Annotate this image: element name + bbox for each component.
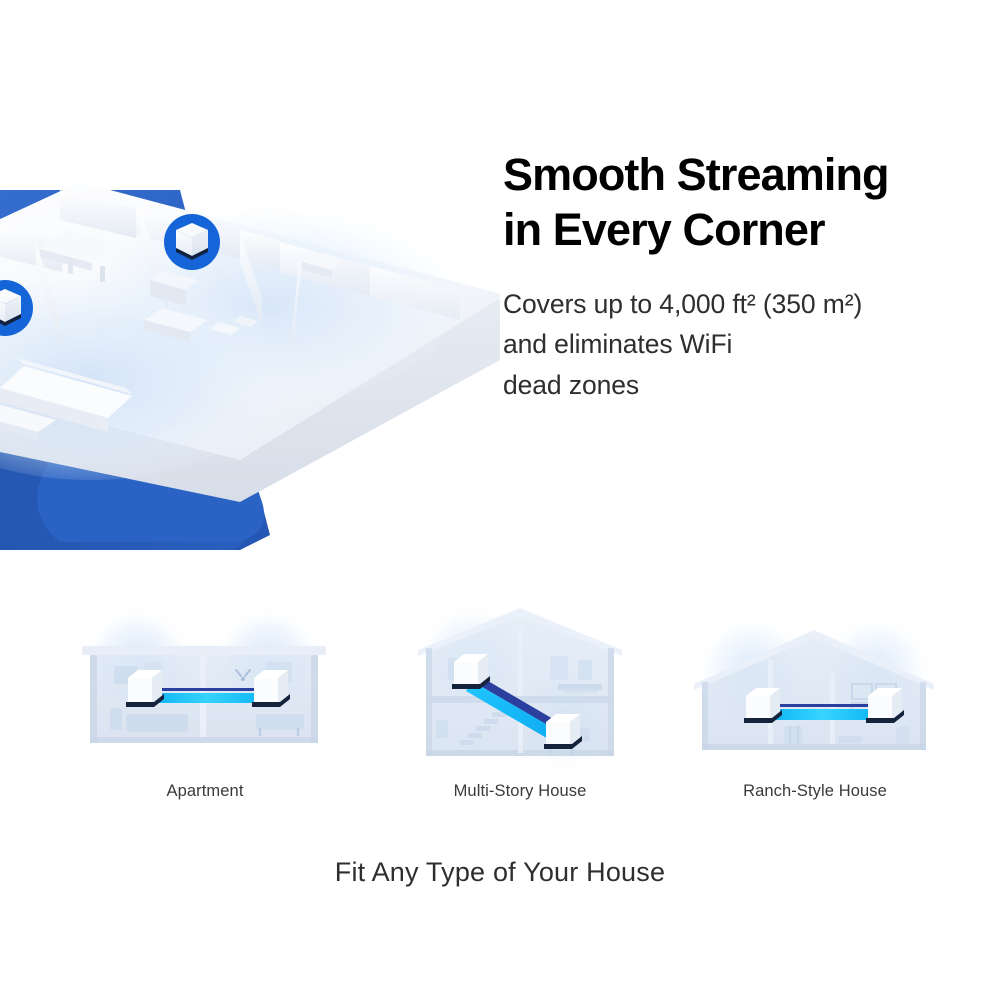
isometric-floorplan-illustration: [0, 130, 500, 570]
section-caption: Fit Any Type of Your House: [0, 857, 1000, 888]
mesh-unit-left: [744, 688, 782, 723]
ranch-house-illustration: [675, 600, 955, 785]
connection-beam: [772, 704, 874, 720]
house-types-section: Apartment: [0, 600, 1000, 840]
mesh-unit-right: [866, 688, 904, 723]
mesh-unit-right: [252, 670, 290, 707]
page-title: Smooth Streaming in Every Corner: [503, 148, 973, 258]
house-type-card-ranch: Ranch-Style House: [675, 600, 955, 801]
hero-section: Smooth Streaming in Every Corner Covers …: [0, 0, 1000, 575]
mesh-unit-badge-1: [164, 214, 220, 270]
mesh-unit-upper: [452, 654, 490, 689]
house-type-card-multistory: Multi-Story House: [395, 600, 645, 801]
hero-description: Covers up to 4,000 ft² (350 m²) and elim…: [503, 258, 973, 406]
multistory-house-illustration: [395, 600, 645, 785]
mesh-unit-left: [126, 670, 164, 707]
hero-copy: Smooth Streaming in Every Corner Covers …: [503, 148, 973, 405]
apartment-illustration: [55, 600, 355, 785]
connection-beam: [152, 688, 264, 703]
house-type-card-apartment: Apartment: [55, 600, 355, 801]
